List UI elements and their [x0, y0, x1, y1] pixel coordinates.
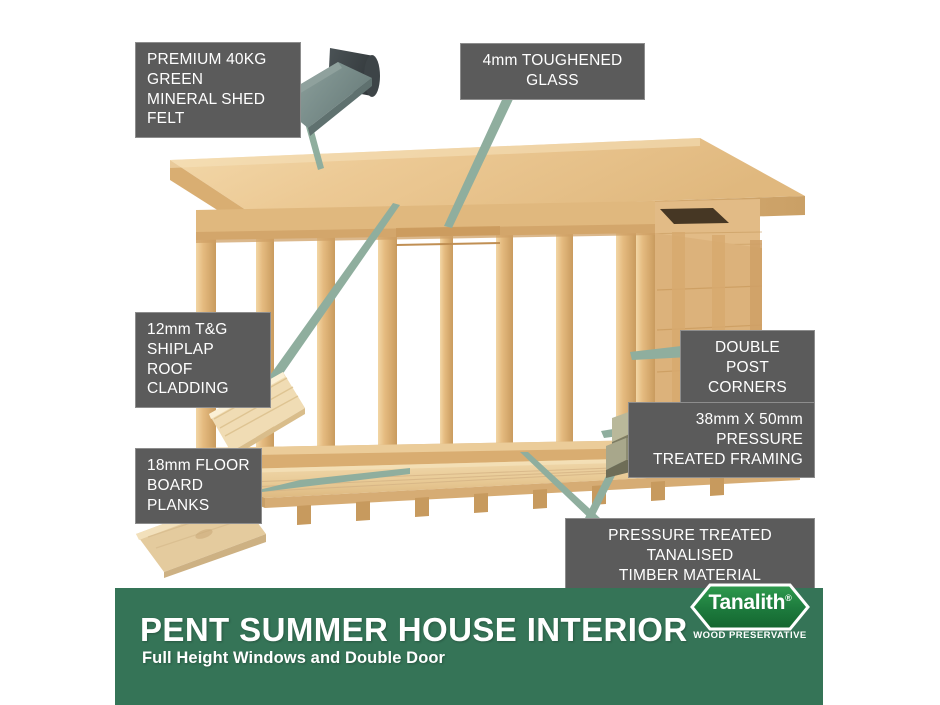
page-subtitle: Full Height Windows and Double Door	[142, 649, 445, 668]
registered-mark-icon: ®	[785, 593, 791, 603]
tanalith-tagline: WOOD PRESERVATIVE	[690, 630, 810, 641]
infographic-canvas: PREMIUM 40KG GREEN MINERAL SHED FELT 4mm…	[0, 0, 940, 705]
tanalith-logo: Tanalith® WOOD PRESERVATIVE	[690, 583, 810, 655]
tanalith-wordmark: Tanalith®	[690, 591, 810, 615]
callout-floor-board-planks[interactable]: 18mm FLOOR BOARD PLANKS	[135, 448, 262, 524]
callout-shiplap-roof-cladding[interactable]: 12mm T&G SHIPLAP ROOF CLADDING	[135, 312, 271, 408]
callout-toughened-glass[interactable]: 4mm TOUGHENED GLASS	[460, 43, 645, 100]
callout-pressure-treated-framing[interactable]: 38mm X 50mm PRESSURE TREATED FRAMING	[628, 402, 815, 478]
callout-roof-felt[interactable]: PREMIUM 40KG GREEN MINERAL SHED FELT	[135, 42, 301, 138]
callout-double-post-corners[interactable]: DOUBLE POST CORNERS	[680, 330, 815, 406]
page-title: PENT SUMMER HOUSE INTERIOR	[140, 611, 688, 649]
tanalith-name: Tanalith	[709, 591, 786, 614]
